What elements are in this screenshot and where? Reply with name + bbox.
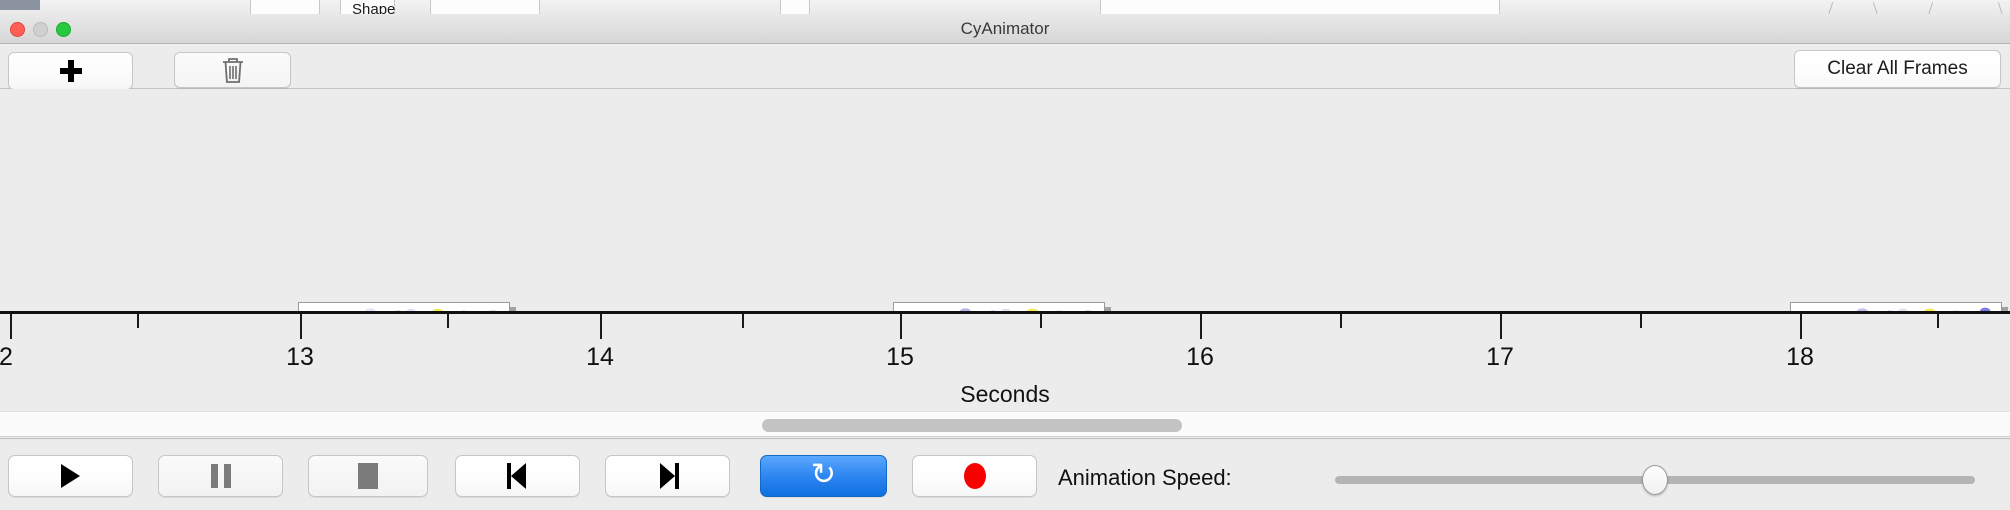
ruler-tick-minor <box>137 314 139 328</box>
timeline-scrollbar-thumb[interactable] <box>762 419 1182 432</box>
ruler-label: 18 <box>1786 343 1814 372</box>
loop-button[interactable]: ↻ <box>760 455 887 497</box>
background-decoration <box>1828 2 1833 14</box>
ruler-tick-minor <box>447 314 449 328</box>
ruler-tick-major <box>10 314 12 339</box>
background-decoration <box>1928 2 1933 14</box>
plus-icon <box>60 60 82 82</box>
animation-speed-label: Animation Speed: <box>1058 465 1232 491</box>
ruler-label: 15 <box>886 343 914 372</box>
background-cell <box>430 0 540 14</box>
skip-previous-icon <box>505 463 531 489</box>
ruler-axis-title: Seconds <box>0 381 2010 408</box>
toolbar: Clear All Frames <box>0 45 2010 89</box>
ruler-tick-major <box>1800 314 1802 339</box>
add-frame-button[interactable] <box>8 52 133 90</box>
window-title: CyAnimator <box>0 19 2010 39</box>
ruler-tick-major <box>600 314 602 339</box>
play-button[interactable] <box>8 455 133 497</box>
timeline-scrollbar[interactable] <box>0 411 2010 437</box>
stop-button[interactable] <box>308 455 428 497</box>
cyanimator-window: Shape CyAnimator Clear All Frames <box>0 0 2010 510</box>
next-frame-button[interactable] <box>605 455 730 497</box>
pause-button[interactable] <box>158 455 283 497</box>
slider-knob[interactable] <box>1642 465 1668 495</box>
ruler-label: 14 <box>586 343 614 372</box>
ruler-tick-minor <box>1640 314 1642 328</box>
clear-all-frames-button[interactable]: Clear All Frames <box>1794 50 2001 88</box>
background-window-accent <box>0 0 40 10</box>
ruler-label: 13 <box>286 343 314 372</box>
ruler-tick-major <box>900 314 902 339</box>
trash-icon <box>220 55 246 85</box>
loop-icon: ↻ <box>811 460 836 490</box>
background-window-label: Shape <box>352 1 395 14</box>
background-cell <box>780 0 810 14</box>
background-decoration <box>1873 2 1878 14</box>
ruler-label: 2 <box>0 343 13 372</box>
timeline-ruler[interactable]: 2 13 14 15 16 17 18 Seconds <box>0 311 2010 411</box>
delete-frame-button[interactable] <box>174 52 291 88</box>
animation-speed-slider[interactable] <box>1335 469 1975 491</box>
ruler-tick-minor <box>1040 314 1042 328</box>
ruler-tick-major <box>1200 314 1202 339</box>
ruler-label: 17 <box>1486 343 1514 372</box>
play-icon <box>61 464 80 488</box>
record-icon <box>964 463 986 489</box>
pause-icon <box>211 464 231 488</box>
clear-all-frames-label: Clear All Frames <box>1827 58 1967 80</box>
ruler-label: 16 <box>1186 343 1214 372</box>
background-window-strip: Shape <box>0 0 2010 14</box>
ruler-tick-minor <box>742 314 744 328</box>
playback-control-bar: ↻ Animation Speed: <box>0 438 2010 510</box>
background-decoration <box>1998 2 2003 14</box>
background-cell <box>1100 0 1500 14</box>
ruler-tick-major <box>300 314 302 339</box>
ruler-tick-minor <box>1937 314 1939 328</box>
record-button[interactable] <box>912 455 1037 497</box>
skip-next-icon <box>655 463 681 489</box>
previous-frame-button[interactable] <box>455 455 580 497</box>
ruler-tick-minor <box>1340 314 1342 328</box>
ruler-tick-major <box>1500 314 1502 339</box>
background-cell <box>250 0 320 14</box>
stop-icon <box>358 463 378 489</box>
title-bar[interactable]: CyAnimator <box>0 14 2010 44</box>
